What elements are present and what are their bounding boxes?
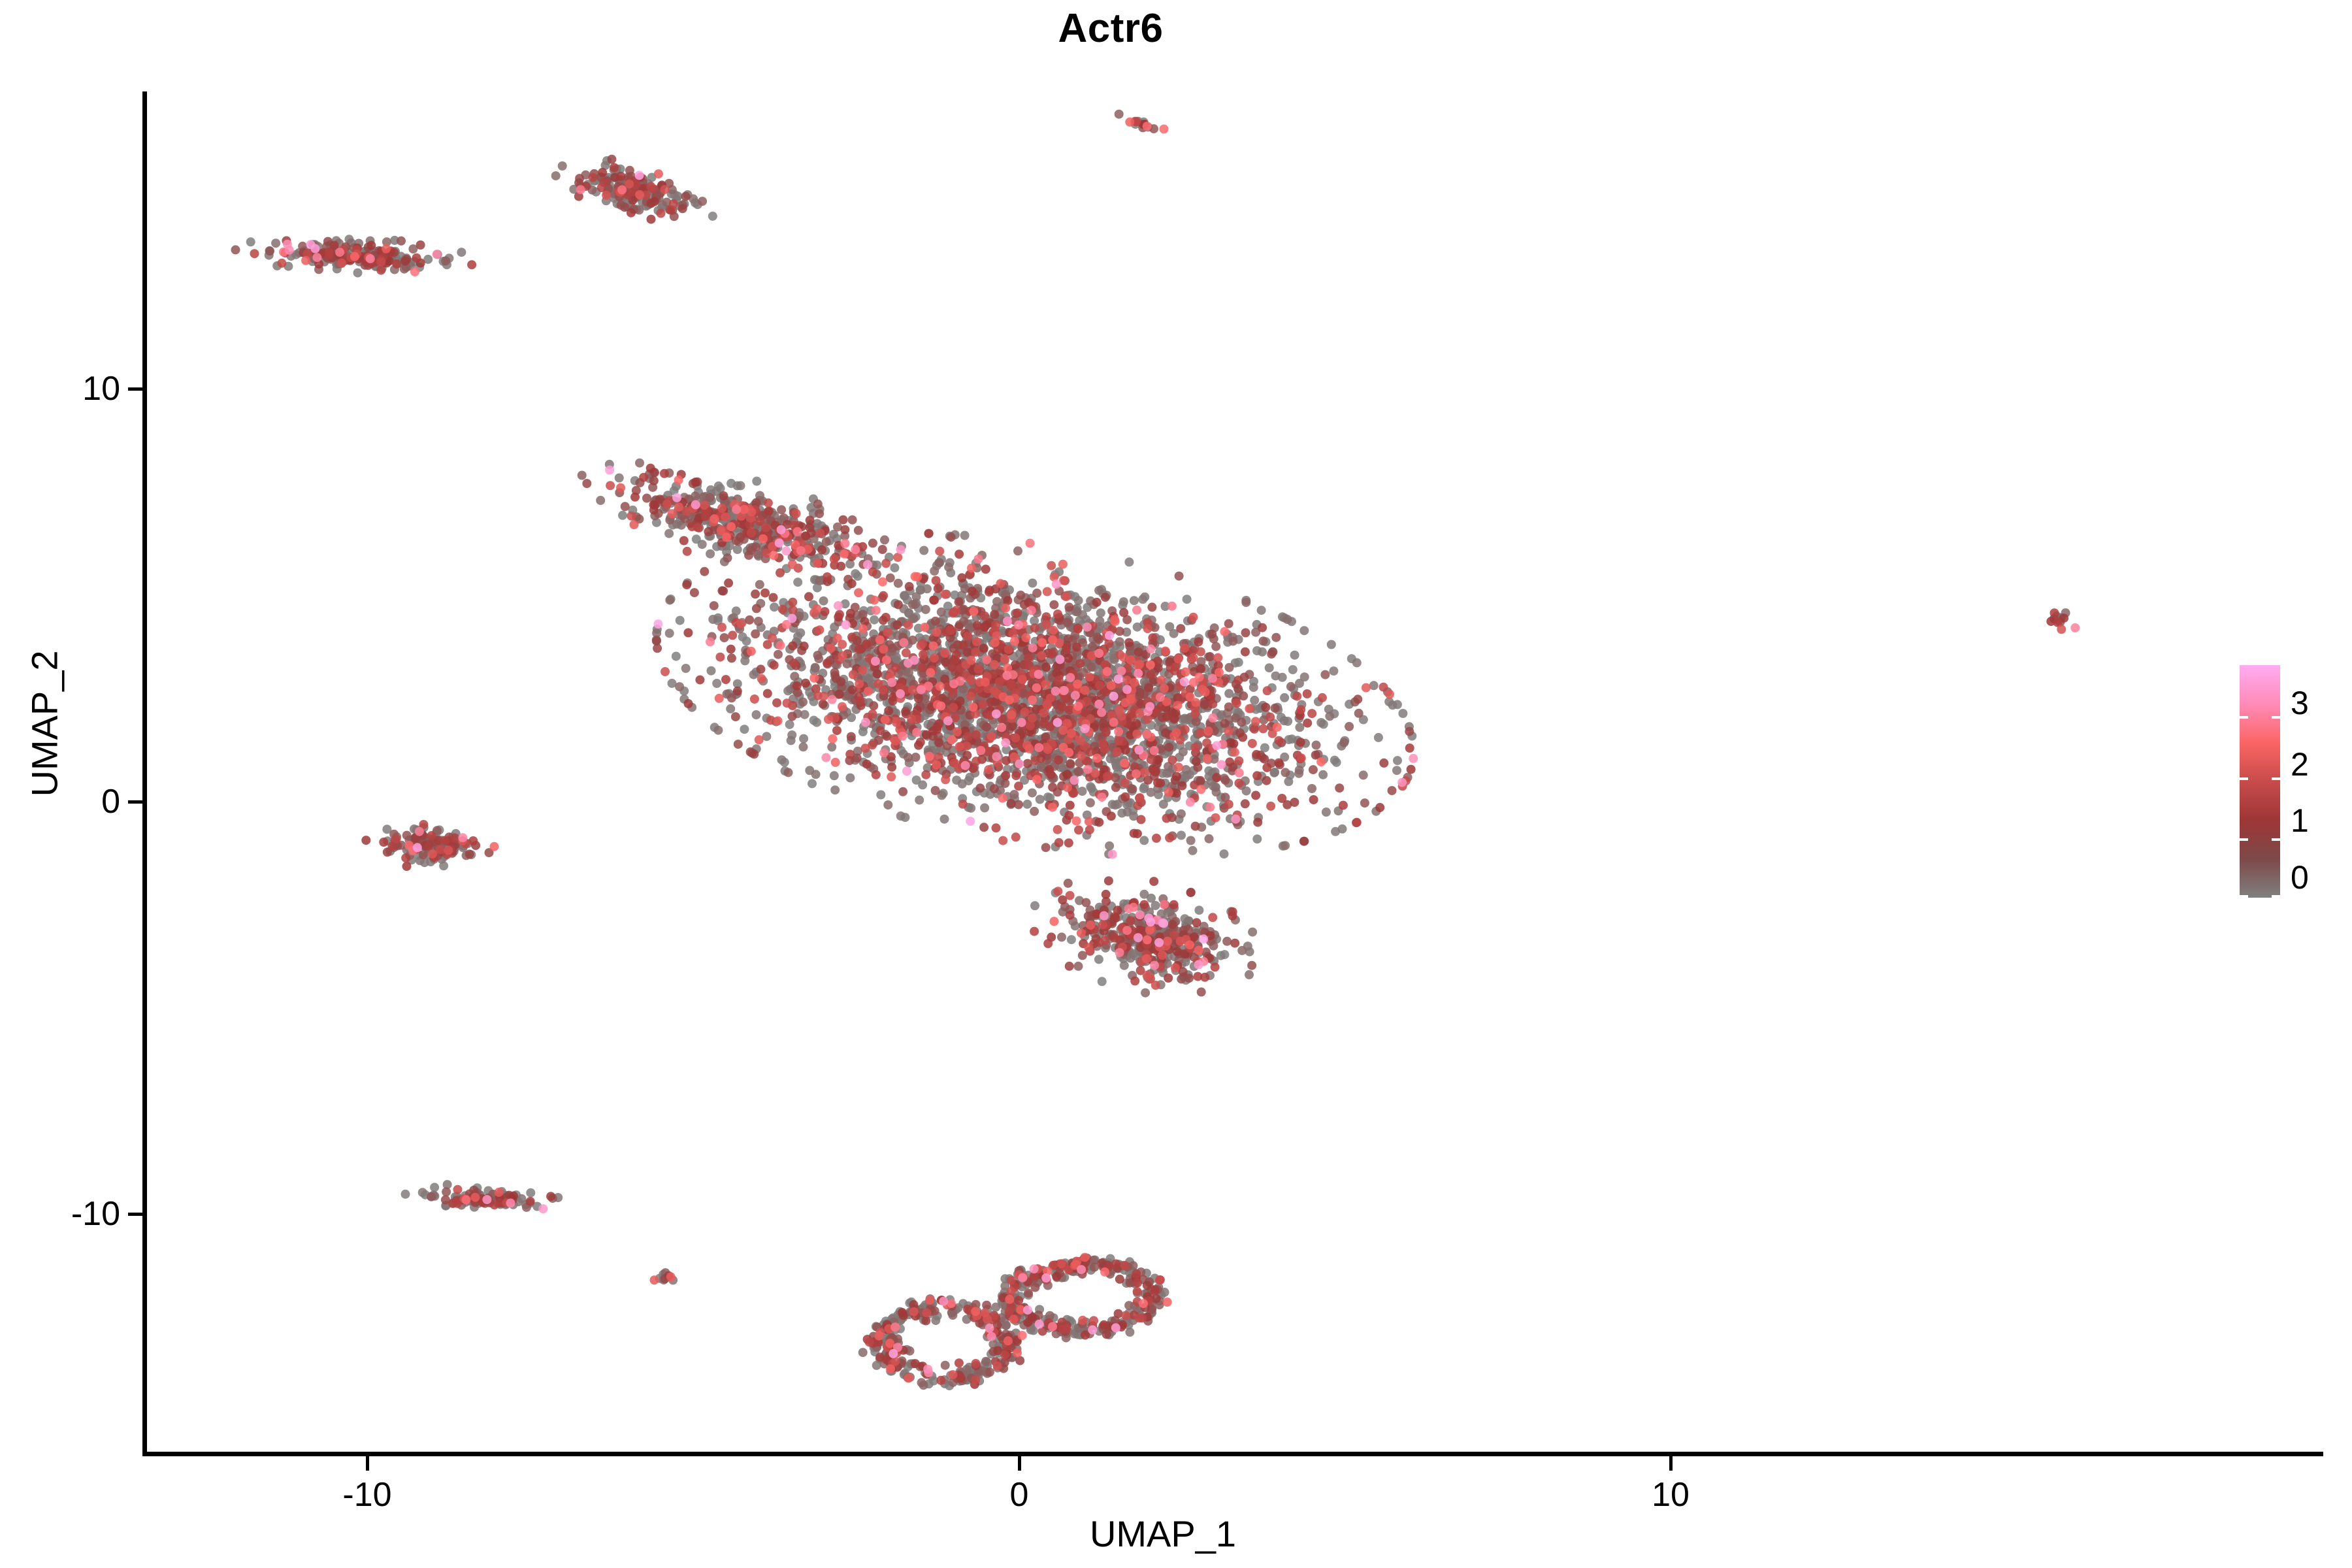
legend-tick-2-right xyxy=(2272,777,2280,780)
x-tick-label-0: 0 xyxy=(1010,1475,1029,1514)
x-axis-title: UMAP_1 xyxy=(0,1512,2326,1555)
x-tick-mark-0 xyxy=(1018,1456,1021,1471)
legend-colorbar xyxy=(2240,665,2280,898)
y-axis-line xyxy=(142,91,147,1454)
legend-tick-3-left xyxy=(2240,716,2248,719)
y-tick-mark-neg10 xyxy=(128,1213,142,1216)
legend-tick-1-left xyxy=(2240,838,2248,841)
scatter-points-layer xyxy=(144,91,2182,1454)
umap-feature-plot: Actr6 10 0 -10 -10 0 10 UMAP_1 UMAP_2 3 … xyxy=(0,0,2352,1568)
legend-tick-3-right xyxy=(2272,716,2280,719)
plot-panel xyxy=(144,91,2182,1454)
y-tick-mark-0 xyxy=(128,800,142,804)
y-tick-label-neg10: -10 xyxy=(71,1194,120,1233)
x-tick-label-10: 10 xyxy=(1652,1475,1690,1514)
y-tick-label-0: 0 xyxy=(101,782,120,821)
x-tick-label-neg10: -10 xyxy=(342,1475,391,1514)
y-tick-label-10: 10 xyxy=(82,369,120,408)
x-tick-mark-10 xyxy=(1669,1456,1673,1471)
legend-tick-1-right xyxy=(2272,838,2280,841)
legend-label-2: 2 xyxy=(2291,745,2309,783)
legend-tick-2-left xyxy=(2240,777,2248,780)
y-axis-title: UMAP_2 xyxy=(24,332,66,1116)
page-title: Actr6 xyxy=(0,5,2221,52)
x-tick-mark-neg10 xyxy=(366,1456,369,1471)
legend-label-1: 1 xyxy=(2291,802,2309,840)
y-tick-mark-10 xyxy=(128,387,142,391)
legend-tick-0-left xyxy=(2240,895,2248,898)
legend-label-0: 0 xyxy=(2291,858,2309,896)
x-axis-line xyxy=(142,1452,2323,1456)
legend-tick-0-right xyxy=(2272,895,2280,898)
legend-label-3: 3 xyxy=(2291,684,2309,722)
color-legend: 3 2 1 0 xyxy=(2240,665,2338,900)
